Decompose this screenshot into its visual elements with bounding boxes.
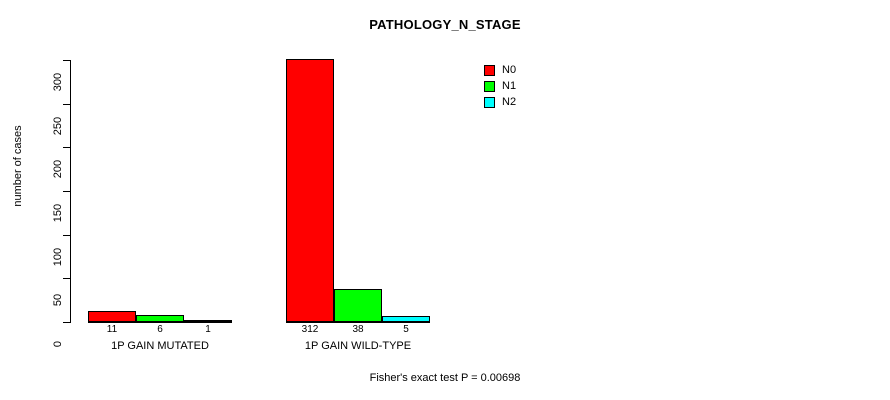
bar-value-wildtype-n2: 5 [382, 324, 430, 335]
legend-label-n1: N1 [502, 81, 516, 92]
bar-wildtype-n1[interactable] [334, 289, 382, 322]
y-tick-label-100: 100 [52, 235, 64, 279]
y-tick-label-50: 50 [52, 278, 64, 322]
legend-item-n0[interactable]: N0 [484, 62, 516, 78]
y-tick-label-250: 250 [52, 104, 64, 148]
bar-mutated-n1[interactable] [136, 315, 184, 322]
group-label-wildtype: 1P GAIN WILD-TYPE [246, 340, 470, 352]
y-tick-150 [63, 191, 70, 192]
y-tick-100 [63, 235, 70, 236]
legend-label-n2: N2 [502, 97, 516, 108]
bar-wildtype-n2[interactable] [382, 316, 430, 322]
y-tick-label-150: 150 [52, 191, 64, 235]
bar-value-wildtype-n1: 38 [334, 324, 382, 335]
legend-item-n2[interactable]: N2 [484, 94, 516, 110]
group-label-mutated: 1P GAIN MUTATED [48, 340, 272, 352]
bar-wildtype-n0[interactable] [286, 59, 334, 322]
bar-value-mutated-n1: 6 [136, 324, 184, 335]
y-tick-250 [63, 104, 70, 105]
legend-label-n0: N0 [502, 65, 516, 76]
y-tick-50 [63, 278, 70, 279]
y-axis-line [70, 60, 71, 323]
bar-value-wildtype-n0: 312 [286, 324, 334, 335]
y-axis-title: number of cases [12, 96, 24, 236]
bar-mutated-n0[interactable] [88, 311, 136, 322]
y-tick-label-300: 300 [52, 60, 64, 104]
legend-item-n1[interactable]: N1 [484, 78, 516, 94]
panel-1p-gain-mutated: 11 6 1 1P GAIN MUTATED [88, 0, 232, 400]
y-tick-label-200: 200 [52, 147, 64, 191]
legend-swatch-n1-icon [484, 81, 495, 92]
y-tick-200 [63, 147, 70, 148]
y-tick-300 [63, 60, 70, 61]
bar-mutated-n2[interactable] [184, 320, 232, 322]
statistical-test-note: Fisher's exact test P = 0.00698 [0, 372, 890, 384]
legend: N0 N1 N2 [484, 62, 516, 110]
bar-value-mutated-n0: 11 [88, 324, 136, 335]
y-tick-0 [63, 322, 70, 323]
legend-swatch-n0-icon [484, 65, 495, 76]
panel-baseline [286, 322, 430, 323]
panel-baseline [88, 322, 232, 323]
panel-1p-gain-wild-type: 312 38 5 1P GAIN WILD-TYPE [286, 0, 430, 400]
bar-value-mutated-n2: 1 [184, 324, 232, 335]
legend-swatch-n2-icon [484, 97, 495, 108]
bar-chart: PATHOLOGY_N_STAGE number of cases 0 50 1… [0, 0, 890, 400]
